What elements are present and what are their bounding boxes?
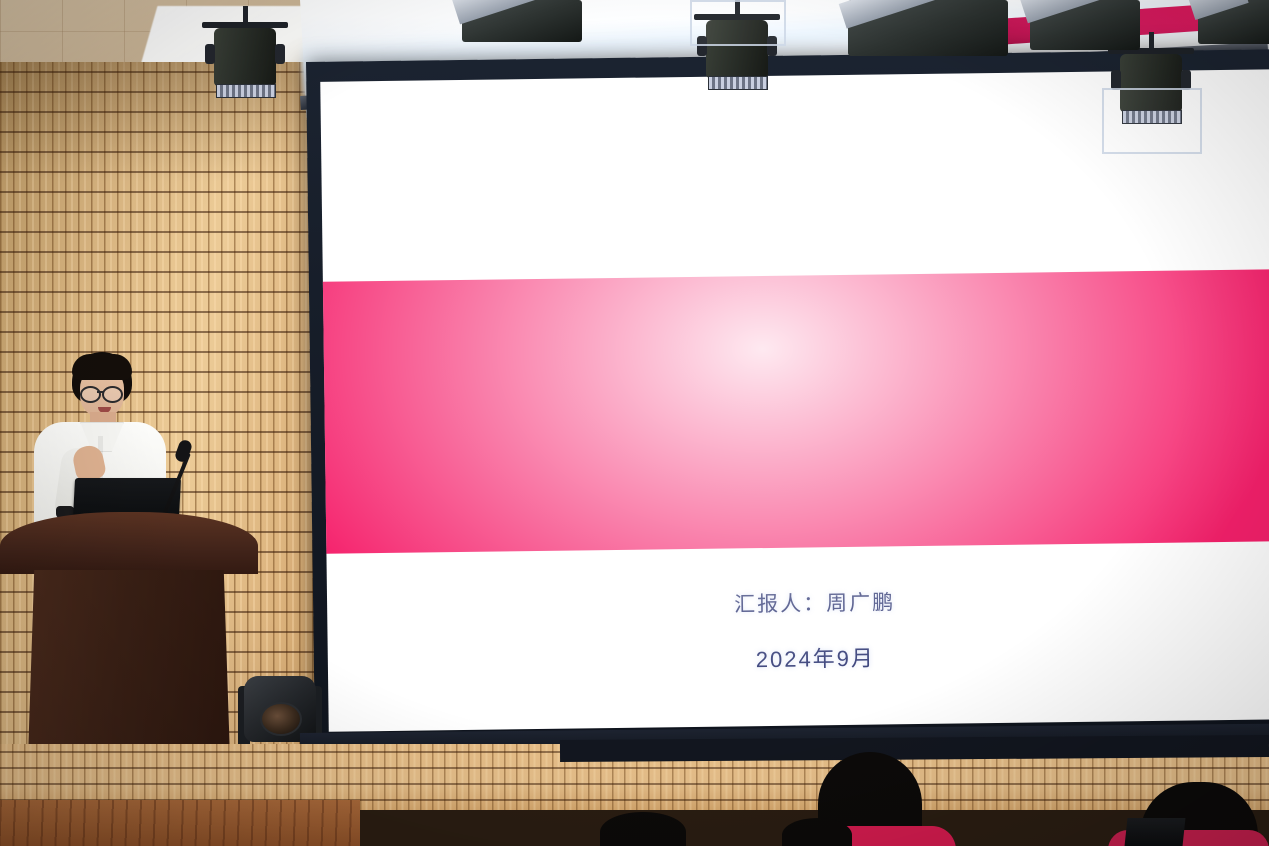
slide-title-band — [320, 269, 1269, 554]
presentation-photo-scene: 软件学院“三全育人”特色化人才培养方案 汇报人：周广鹏 2024年9月 — [0, 0, 1269, 846]
light-lens — [708, 76, 768, 90]
fresnel-light-icon-4 — [1198, 0, 1269, 44]
fresnel-light-icon-3 — [1030, 0, 1140, 50]
podium-top-surface — [0, 512, 258, 574]
eyeglasses-lens-left — [80, 386, 101, 403]
slide-title: 软件学院“三全育人”特色化人才培养方案 — [322, 180, 1269, 247]
light-lens — [260, 702, 302, 736]
audience-head-3 — [782, 818, 852, 846]
projection-screen-frame: 软件学院“三全育人”特色化人才培养方案 汇报人：周广鹏 2024年9月 — [306, 49, 1269, 752]
fresnel-light-icon-2 — [848, 0, 1008, 56]
light-ear-right — [1181, 70, 1191, 90]
light-lens — [216, 84, 276, 98]
eyeglasses-lens-right — [102, 386, 123, 403]
slide-date-line: 2024年9月 — [328, 635, 1269, 680]
eyeglasses-bridge — [97, 391, 103, 393]
slide-presenter-line: 汇报人：周广鹏 — [327, 581, 1269, 624]
audience-laptop — [1125, 818, 1186, 846]
wall-shadow-overlay — [0, 62, 330, 182]
light-ear-right — [275, 44, 285, 64]
speaker-fringe — [72, 354, 132, 380]
audience-head-1 — [600, 812, 686, 846]
light-body — [214, 28, 276, 86]
light-ear-left — [1111, 70, 1121, 90]
par-light-icon-1 — [214, 22, 276, 98]
light-ear-left — [205, 44, 215, 64]
fresnel-light-icon-1 — [462, 0, 582, 42]
lighting-truss-center — [690, 0, 786, 46]
lighting-truss-right — [1102, 88, 1202, 154]
projection-screen: 软件学院“三全育人”特色化人才培养方案 汇报人：周广鹏 2024年9月 — [320, 69, 1269, 732]
